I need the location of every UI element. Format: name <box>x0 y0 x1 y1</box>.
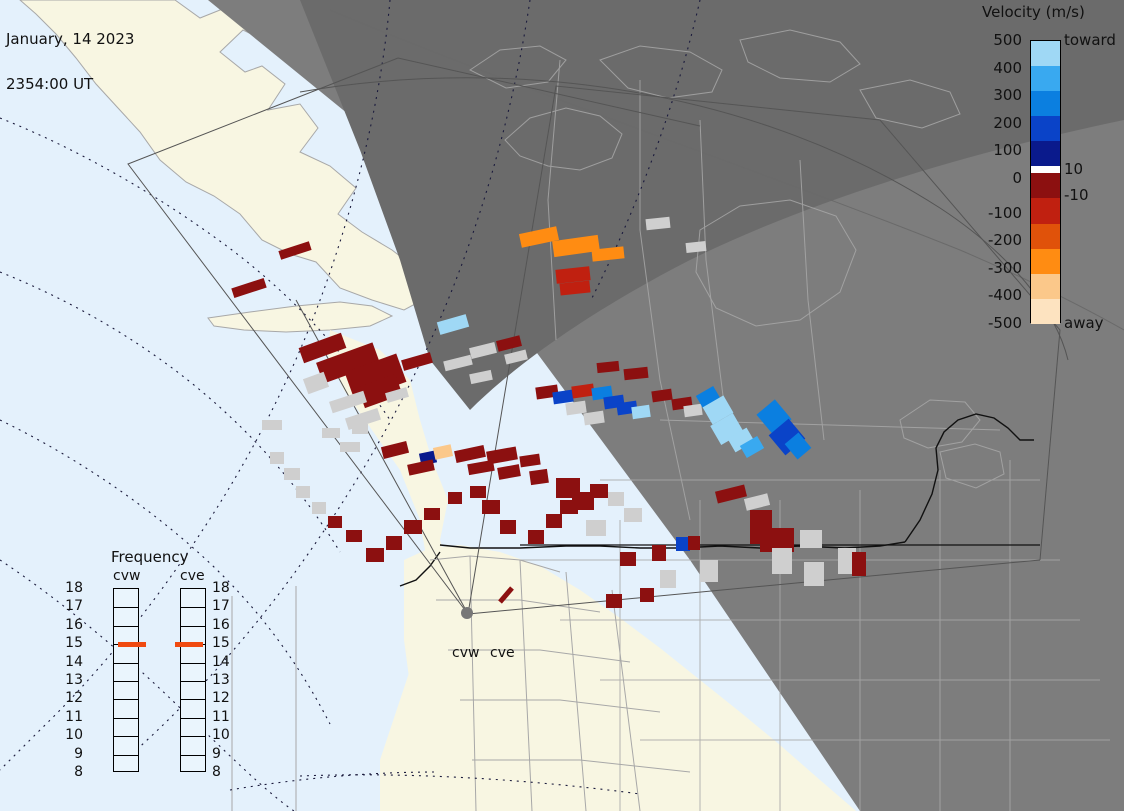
velocity-cell <box>284 468 300 480</box>
colorbar-tick: 0 <box>1012 169 1022 187</box>
colorbar-tick: -300 <box>988 259 1022 277</box>
colorbar-tick: 400 <box>993 59 1022 77</box>
colorbar-tick: 300 <box>993 86 1022 104</box>
frequency-panel: Frequency cvw18171615141312111098cve1817… <box>85 548 245 793</box>
frequency-tick: 8 <box>212 764 221 780</box>
velocity-cell <box>529 469 549 485</box>
frequency-tick: 16 <box>212 617 230 633</box>
velocity-cell <box>686 241 707 253</box>
velocity-cell <box>606 594 622 608</box>
frequency-gridline <box>114 681 138 682</box>
frequency-gridline <box>181 607 205 608</box>
radar-station-dot <box>461 607 473 619</box>
velocity-cell <box>352 424 368 434</box>
velocity-cell <box>366 548 384 562</box>
frequency-gridline <box>181 755 205 756</box>
frequency-tick: 15 <box>65 635 83 651</box>
frequency-marker <box>118 642 146 647</box>
velocity-cell <box>586 520 606 536</box>
colorbar-segment <box>1031 41 1060 66</box>
frequency-tick: 9 <box>74 746 83 762</box>
colorbar-tick: -100 <box>988 204 1022 222</box>
frequency-tick: 18 <box>212 580 230 596</box>
colorbar-segment <box>1031 116 1060 141</box>
colorbar-tick-labels: 5004003002001000-100-200-300-400-500 <box>978 40 1026 323</box>
frequency-tick: 8 <box>74 764 83 780</box>
velocity-colorbar: Velocity (m/s) 5004003002001000-100-200-… <box>978 0 1124 330</box>
frequency-marker <box>175 642 203 647</box>
colorbar-segment <box>1031 166 1060 173</box>
toward-label: toward <box>1064 31 1116 49</box>
velocity-cell <box>328 516 342 528</box>
frequency-gridline <box>181 681 205 682</box>
velocity-cell <box>262 420 282 430</box>
velocity-cell <box>448 492 462 504</box>
colorbar-segment <box>1031 198 1060 223</box>
frequency-tick: 11 <box>212 709 230 725</box>
radar-map-figure: January, 14 2023 2354:00 UT Velocity (m/… <box>0 0 1124 811</box>
frequency-gridline <box>114 663 138 664</box>
velocity-cell <box>608 492 624 506</box>
timestamp-block: January, 14 2023 2354:00 UT <box>6 2 134 122</box>
velocity-cell <box>700 560 718 582</box>
velocity-cell <box>772 548 792 574</box>
velocity-cell <box>424 508 440 520</box>
velocity-cell <box>676 537 690 551</box>
velocity-cell <box>640 588 654 602</box>
colorbar-segment <box>1031 249 1060 274</box>
date-label: January, 14 2023 <box>6 32 134 47</box>
frequency-column-label: cve <box>180 568 205 584</box>
zero-negative-label: -10 <box>1064 186 1089 204</box>
frequency-gridline <box>114 736 138 737</box>
frequency-tick: 13 <box>212 672 230 688</box>
velocity-cell <box>322 428 340 438</box>
velocity-cell <box>688 536 700 550</box>
frequency-tick: 15 <box>212 635 230 651</box>
colorbar-tick: -400 <box>988 286 1022 304</box>
frequency-title: Frequency <box>111 548 189 566</box>
site-label-cve: cve <box>490 645 515 661</box>
frequency-tick: 17 <box>65 598 83 614</box>
velocity-cell <box>660 570 676 588</box>
colorbar-segment <box>1031 173 1060 198</box>
colorbar-segment <box>1031 141 1060 166</box>
velocity-cell <box>386 536 402 550</box>
colorbar-tick: 100 <box>993 141 1022 159</box>
frequency-gridline <box>114 755 138 756</box>
away-label: away <box>1064 314 1104 332</box>
colorbar-title: Velocity (m/s) <box>982 3 1085 21</box>
frequency-gridline <box>181 718 205 719</box>
velocity-cell <box>500 520 516 534</box>
frequency-tick: 13 <box>65 672 83 688</box>
frequency-gridline <box>181 626 205 627</box>
frequency-tick: 12 <box>212 690 230 706</box>
velocity-cell <box>800 530 822 548</box>
frequency-gridline <box>114 626 138 627</box>
colorbar-segment <box>1031 91 1060 116</box>
velocity-cell <box>590 484 608 498</box>
colorbar-tick: 200 <box>993 114 1022 132</box>
frequency-scale-box <box>180 588 206 772</box>
frequency-gridline <box>181 663 205 664</box>
frequency-tick: 10 <box>65 727 83 743</box>
frequency-gridline <box>114 699 138 700</box>
colorbar-tick: -200 <box>988 231 1022 249</box>
frequency-column-label: cvw <box>113 568 140 584</box>
velocity-cell <box>346 530 362 542</box>
velocity-cell <box>624 508 642 522</box>
colorbar-tick: 500 <box>993 31 1022 49</box>
frequency-tick: 10 <box>212 727 230 743</box>
colorbar-strip <box>1030 40 1061 323</box>
velocity-cell <box>312 502 326 514</box>
frequency-tick: 14 <box>212 654 230 670</box>
frequency-tick: 16 <box>65 617 83 633</box>
frequency-tick: 17 <box>212 598 230 614</box>
frequency-gridline <box>181 736 205 737</box>
site-label-cvw: cvw <box>452 645 479 661</box>
time-label: 2354:00 UT <box>6 77 134 92</box>
colorbar-side-labels: toward 10 -10 away <box>1064 40 1124 323</box>
velocity-cell <box>620 552 636 566</box>
velocity-cell <box>296 486 310 498</box>
velocity-cell <box>852 552 866 576</box>
frequency-gridline <box>181 699 205 700</box>
frequency-tick: 14 <box>65 654 83 670</box>
colorbar-segment <box>1031 274 1060 299</box>
velocity-cell <box>404 520 422 534</box>
velocity-cell <box>340 442 360 452</box>
colorbar-tick: -500 <box>988 314 1022 332</box>
frequency-scale-box <box>113 588 139 772</box>
velocity-cell <box>470 486 486 498</box>
colorbar-segment <box>1031 224 1060 249</box>
frequency-gridline <box>114 607 138 608</box>
velocity-cell <box>482 500 500 514</box>
colorbar-segment <box>1031 299 1060 324</box>
frequency-tick: 18 <box>65 580 83 596</box>
velocity-cell <box>652 545 666 561</box>
velocity-cell <box>546 514 562 528</box>
frequency-gridline <box>114 718 138 719</box>
zero-positive-label: 10 <box>1064 160 1083 178</box>
velocity-cell <box>528 530 544 544</box>
velocity-cell <box>804 562 824 586</box>
velocity-cell <box>270 452 284 464</box>
frequency-tick: 9 <box>212 746 221 762</box>
frequency-tick: 12 <box>65 690 83 706</box>
frequency-tick: 11 <box>65 709 83 725</box>
colorbar-segment <box>1031 66 1060 91</box>
velocity-cell <box>631 405 650 419</box>
